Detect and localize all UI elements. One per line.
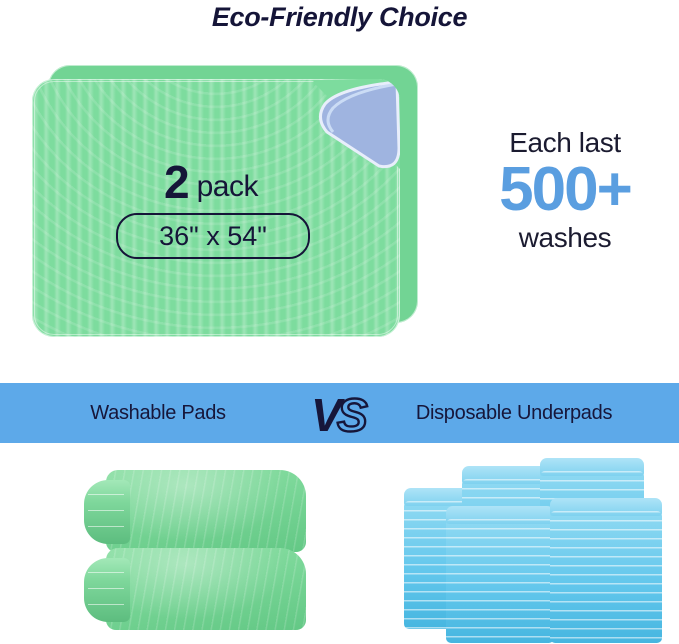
folded-pad-top-sheen (106, 470, 306, 552)
comparison-left-label: Washable Pads (0, 383, 316, 443)
disposable-underpads-image (404, 457, 666, 637)
durability-claim: Each last 500+ washes (455, 128, 675, 253)
washable-pads-image (84, 470, 306, 635)
folded-pad-top (84, 470, 306, 552)
folded-pad-bottom-sheen (106, 548, 306, 630)
folded-pad-top-edge (84, 480, 130, 544)
comparison-right-label: Disposable Underpads (349, 383, 679, 443)
claim-line-top: Each last (455, 128, 675, 157)
comparison-products (0, 443, 679, 644)
folded-pad-bottom-edge (84, 558, 130, 622)
folded-pad-bottom (84, 548, 306, 630)
product-infographic: Eco-Friendly Choice 2pack 36" x 54" (0, 0, 679, 644)
underpad-stack-front-left (446, 519, 554, 643)
comparison-banner: Washable Pads V S Disposable Underpads (0, 383, 679, 443)
pack-count-line: 2pack (96, 155, 326, 209)
pack-count-word: pack (197, 170, 258, 203)
underpad-stack-front-right (550, 511, 662, 643)
claim-line-bottom: washes (455, 223, 675, 252)
size-badge-label: 36" x 54" (159, 221, 267, 252)
pack-count-number: 2 (164, 156, 189, 208)
claim-wash-count: 500+ (455, 159, 675, 221)
size-badge: 36" x 54" (116, 213, 310, 259)
folded-pad-top-body (106, 470, 306, 552)
folded-pad-bottom-body (106, 548, 306, 630)
page-title: Eco-Friendly Choice (0, 2, 679, 33)
